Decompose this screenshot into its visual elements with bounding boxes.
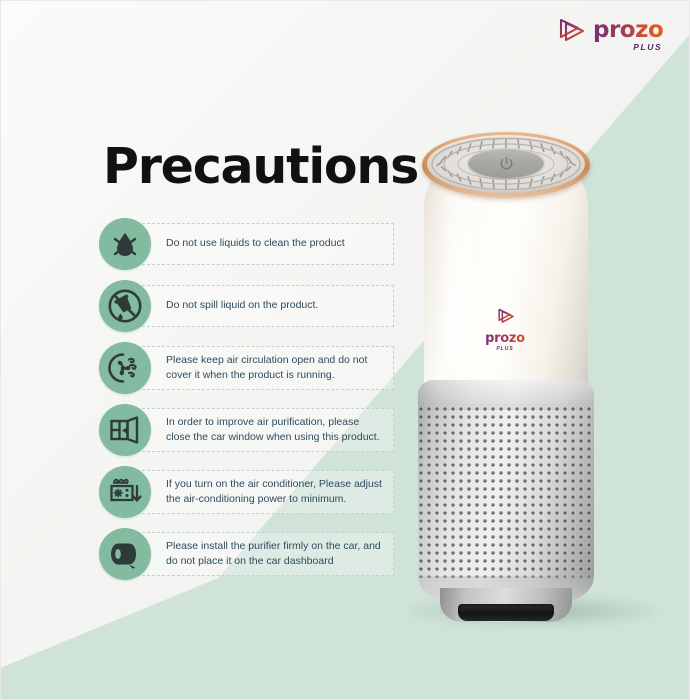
precaution-row: Please install the purifier firmly on th… <box>99 528 394 580</box>
precaution-text-box: Do not spill liquid on the product. <box>137 285 394 327</box>
precaution-text-box: Do not use liquids to clean the product <box>137 223 394 265</box>
air-conditioner-lower-icon <box>99 466 151 518</box>
device-base-air-slot <box>458 604 554 621</box>
precaution-text-box: If you turn on the air conditioner, Plea… <box>137 470 394 514</box>
precaution-row: Do not use liquids to clean the product <box>99 218 394 270</box>
no-spill-cup-icon <box>99 280 151 332</box>
precaution-text-box: In order to improve air purification, pl… <box>137 408 394 452</box>
brand-text: prozo PLUS <box>593 19 663 52</box>
power-symbol-icon <box>498 155 515 172</box>
precaution-text-box: Please install the purifier firmly on th… <box>137 532 394 576</box>
page-title: Precautions <box>103 138 418 195</box>
precaution-text: In order to improve air purification, pl… <box>166 415 383 445</box>
brand-tagline: PLUS <box>633 43 662 52</box>
precaution-text: Please keep air circulation open and do … <box>166 353 383 383</box>
brand-name: prozo <box>593 19 663 42</box>
precaution-text: If you turn on the air conditioner, Plea… <box>166 477 383 507</box>
product-brand-name: prozo <box>485 331 525 346</box>
precaution-text: Do not use liquids to clean the product <box>166 236 345 251</box>
power-button[interactable] <box>468 148 544 178</box>
precaution-text: Do not spill liquid on the product. <box>166 298 318 313</box>
air-circulation-fan-icon <box>99 342 151 394</box>
product-brand-tagline: PLUS <box>496 346 513 352</box>
precautions-list: Do not use liquids to clean the product … <box>99 218 394 590</box>
precaution-text: Please install the purifier firmly on th… <box>166 539 383 569</box>
tape-roll-icon <box>99 528 151 580</box>
product-brand-logo: prozo PLUS <box>474 308 536 352</box>
no-liquid-drop-icon <box>99 218 151 270</box>
air-purifier-product-image: prozo PLUS <box>406 118 606 614</box>
brand-logo: prozo PLUS <box>556 18 663 52</box>
prozo-logo-icon <box>556 18 586 52</box>
precaution-text-box: Please keep air circulation open and do … <box>137 346 394 390</box>
precaution-row: If you turn on the air conditioner, Plea… <box>99 466 394 518</box>
precautions-infographic: prozo PLUS Precautions Do not use liquid… <box>0 0 690 700</box>
prozo-logo-icon <box>496 308 515 330</box>
precaution-row: Do not spill liquid on the product. <box>99 280 394 332</box>
mesh-perforations <box>418 406 594 578</box>
precaution-row: Please keep air circulation open and do … <box>99 342 394 394</box>
close-car-window-icon <box>99 404 151 456</box>
device-mesh-filter-housing <box>418 380 594 602</box>
precaution-row: In order to improve air purification, pl… <box>99 404 394 456</box>
